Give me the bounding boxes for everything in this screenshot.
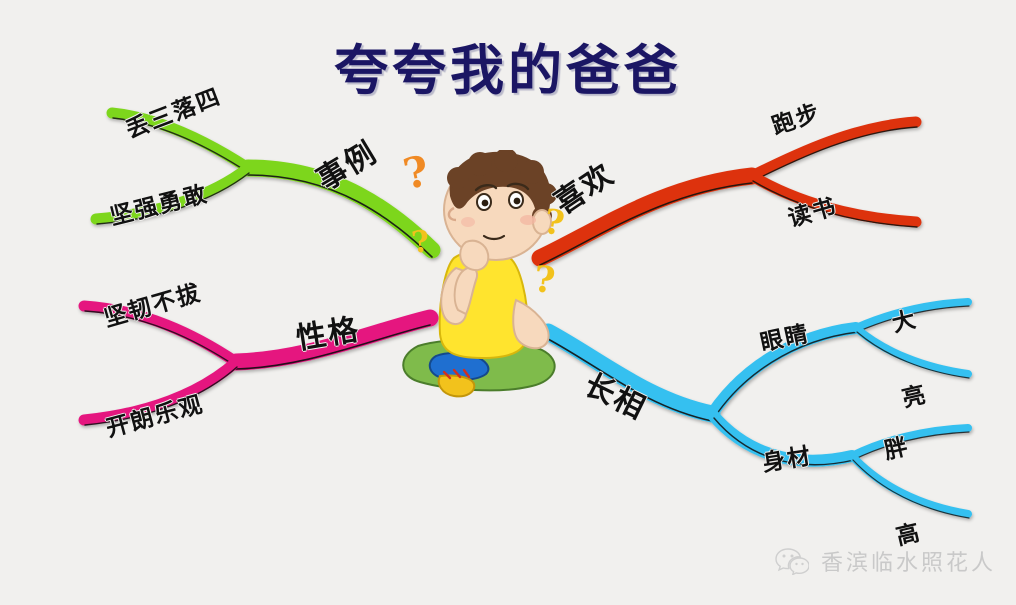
watermark: 香滨临水照花人 [775, 545, 996, 577]
question-mark-icon: ? [532, 261, 557, 299]
mindmap-canvas: 夸夸我的爸爸 ? ? ? ? 事例 丢三落四 坚强勇敢 喜欢 跑步 读书 性格 … [0, 0, 1016, 605]
wechat-icon [775, 547, 809, 575]
page-title: 夸夸我的爸爸 [0, 26, 1016, 105]
watermark-text: 香滨临水照花人 [821, 545, 996, 577]
